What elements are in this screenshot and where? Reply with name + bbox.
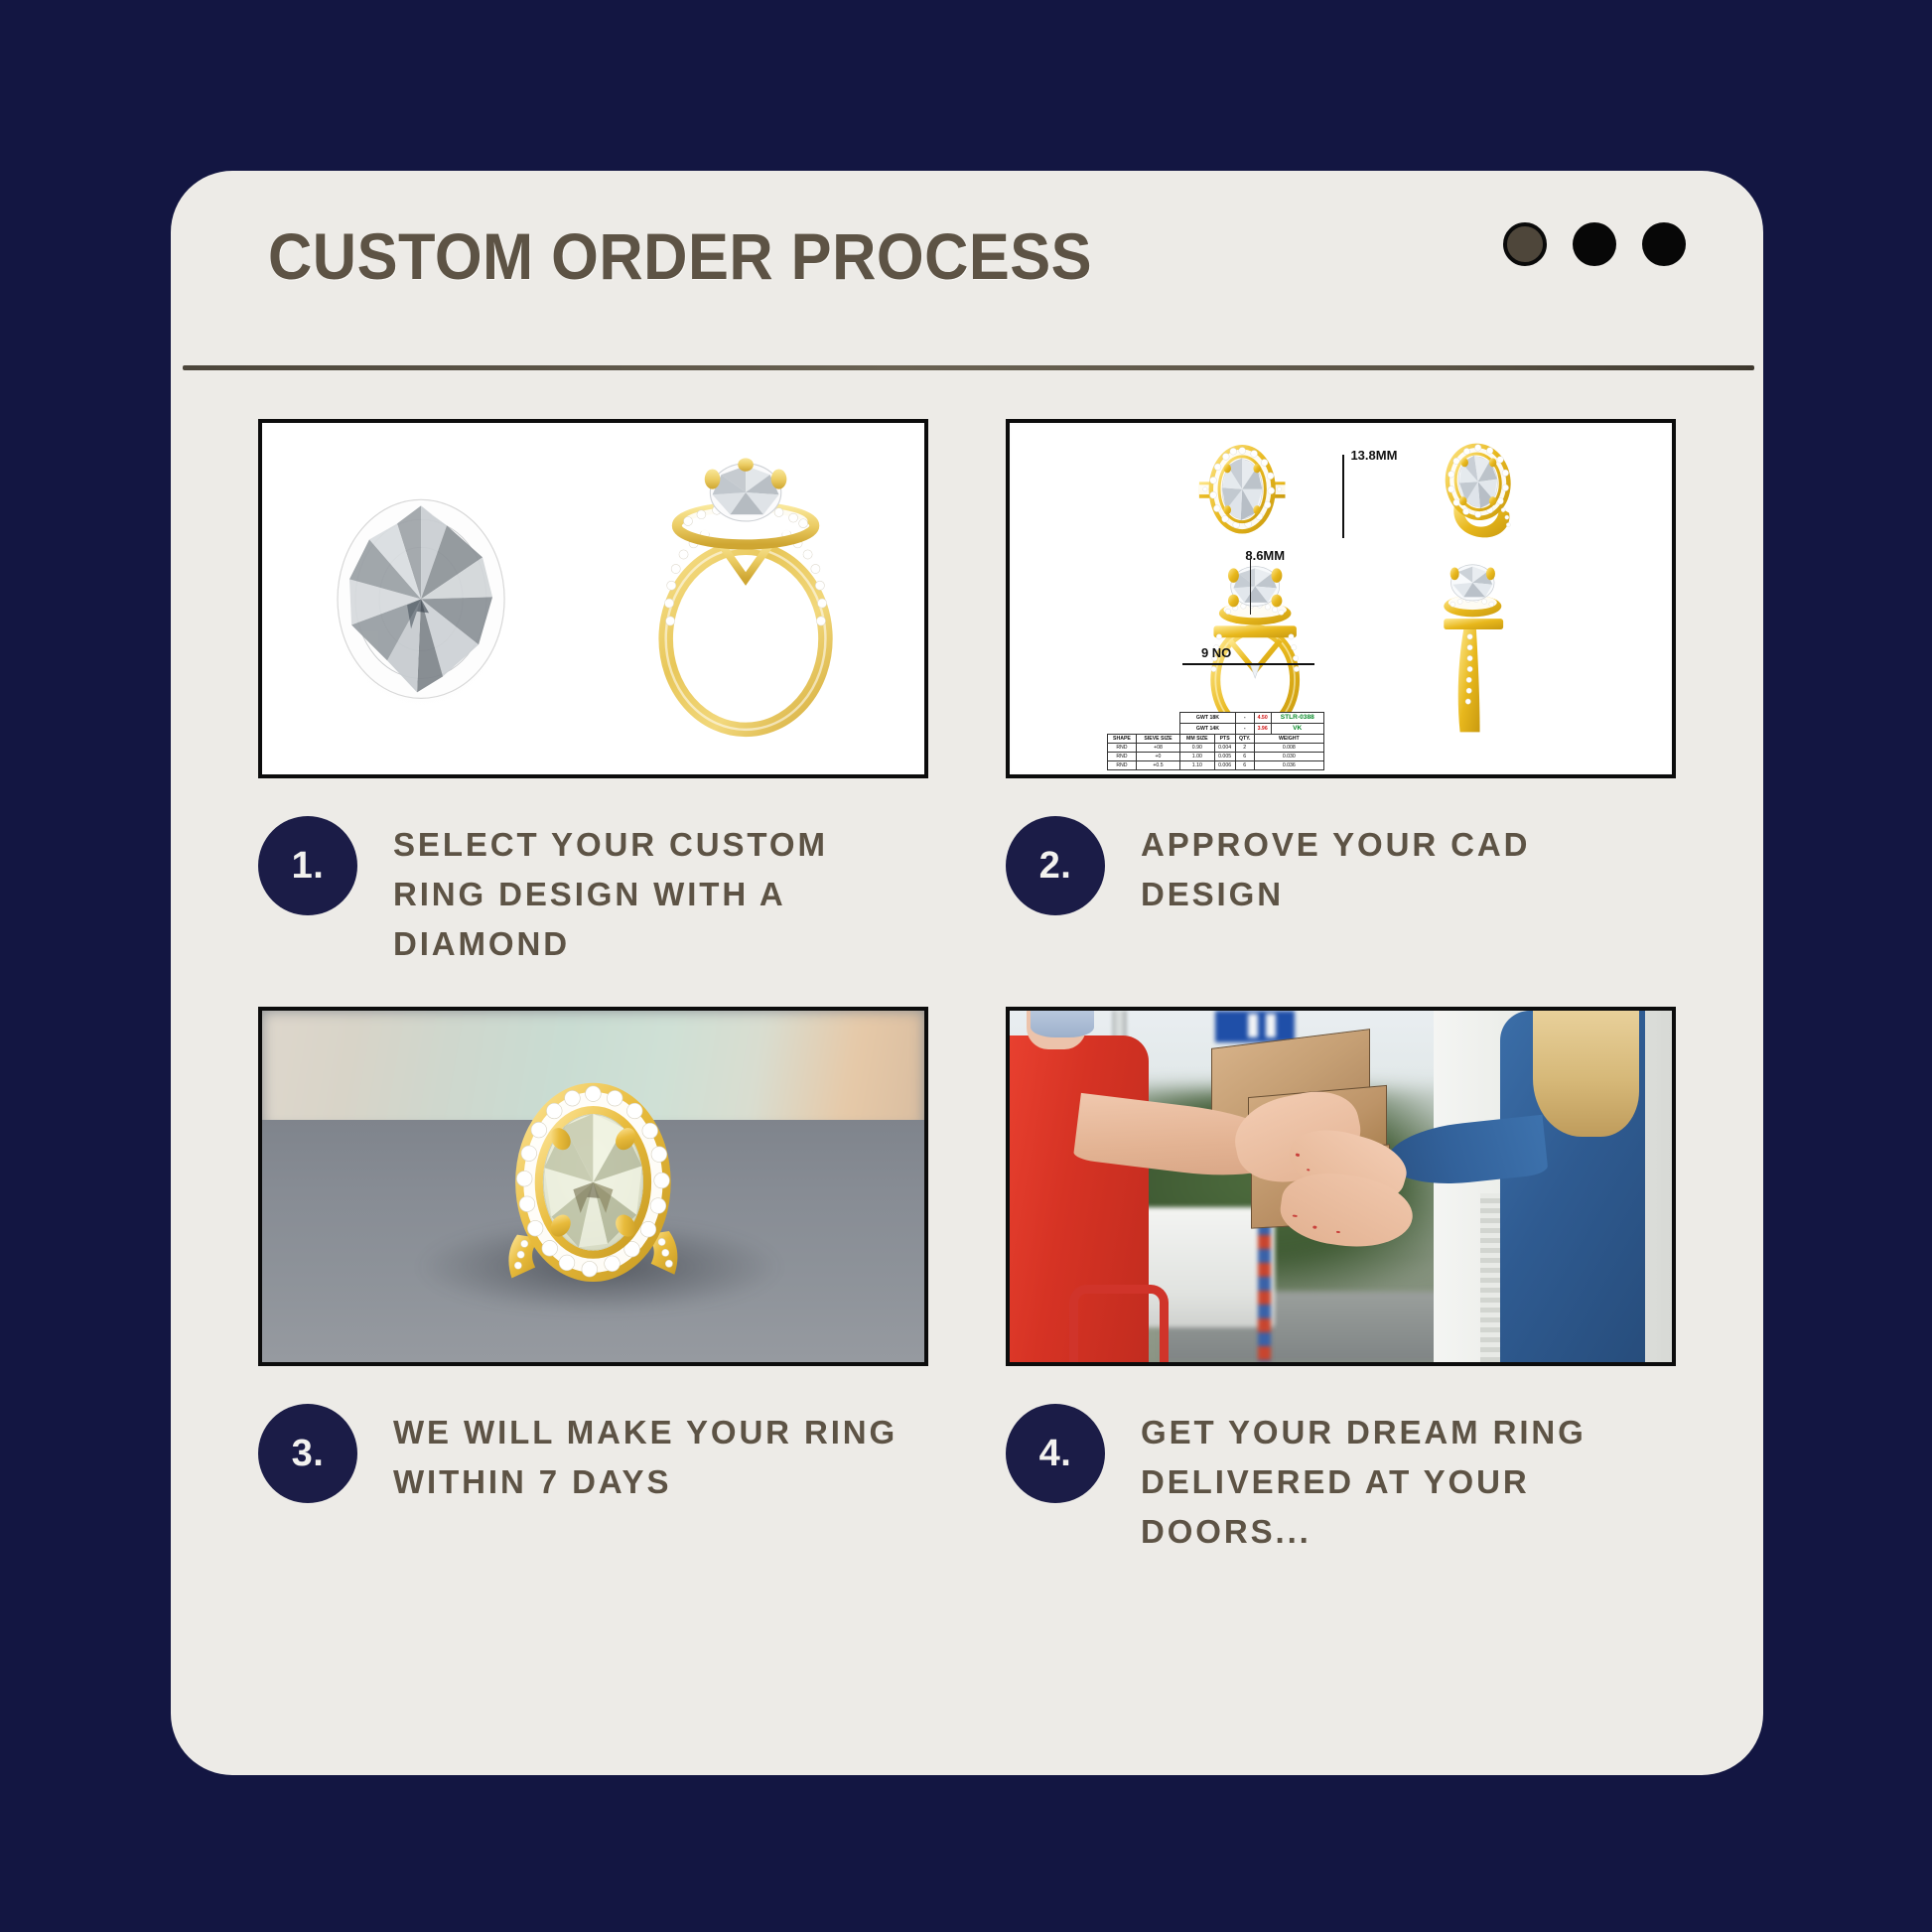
spec-th-pts: PTS bbox=[1214, 735, 1235, 744]
face-mask-icon bbox=[1031, 1011, 1093, 1037]
road-sign bbox=[1215, 1011, 1295, 1042]
step-2: 13.8MM 8.6MM 9 NO GWT 18K - bbox=[1006, 419, 1676, 977]
step-1: 1. SELECT YOUR CUSTOM RING DESIGN WITH A… bbox=[258, 419, 928, 977]
spec-gwt14k-value: 3.96 bbox=[1254, 724, 1271, 735]
gold-ring-illustration bbox=[626, 455, 865, 743]
step-1-caption: 1. SELECT YOUR CUSTOM RING DESIGN WITH A… bbox=[258, 778, 928, 977]
window-dot-1-icon[interactable] bbox=[1503, 222, 1547, 266]
step-3-caption: 3. WE WILL MAKE YOUR RING WITHIN 7 DAYS bbox=[258, 1366, 928, 1565]
step-2-label: APPROVE YOUR CAD DESIGN bbox=[1141, 808, 1657, 919]
spec-initials: VK bbox=[1271, 724, 1323, 735]
window-dot-3-icon[interactable] bbox=[1642, 222, 1686, 266]
spec-gwt14k-dash: - bbox=[1235, 724, 1254, 735]
step-2-number-badge: 2. bbox=[1006, 816, 1105, 915]
dimension-label-halo-width: 13.8MM bbox=[1350, 448, 1397, 463]
spec-th-shape: SHAPE bbox=[1108, 735, 1137, 744]
step-3-image[interactable] bbox=[258, 1007, 928, 1366]
step-4-caption: 4. GET YOUR DREAM RING DELIVERED AT YOUR… bbox=[1006, 1366, 1676, 1565]
spec-th-mmsize: MM SIZE bbox=[1180, 735, 1214, 744]
step-3: 3. WE WILL MAKE YOUR RING WITHIN 7 DAYS bbox=[258, 1007, 928, 1565]
step-1-image[interactable] bbox=[258, 419, 928, 778]
dimension-tick-stone bbox=[1250, 559, 1251, 615]
cad-view-perspective bbox=[1394, 436, 1565, 547]
recipient-hair bbox=[1533, 1011, 1639, 1137]
spec-th-qty: QTY. bbox=[1235, 735, 1254, 744]
spec-row-2: RND +0 1.00 0.005 6 0.030 bbox=[1108, 753, 1324, 761]
window-dots bbox=[1503, 222, 1686, 266]
step-1-number-badge: 1. bbox=[258, 816, 357, 915]
page-title: CUSTOM ORDER PROCESS bbox=[268, 218, 1092, 294]
browser-card: CUSTOM ORDER PROCESS bbox=[171, 171, 1763, 1775]
dimension-label-stone-width: 8.6MM bbox=[1245, 548, 1285, 563]
finished-ring-illustration bbox=[441, 1070, 746, 1323]
step-4-label: GET YOUR DREAM RING DELIVERED AT YOUR DO… bbox=[1141, 1396, 1657, 1557]
dimension-line-horizontal bbox=[1182, 663, 1314, 665]
spec-gwt14k-label: GWT 14K bbox=[1180, 724, 1236, 735]
cad-sheet: 13.8MM 8.6MM 9 NO GWT 18K - bbox=[1010, 423, 1672, 774]
step-2-image[interactable]: 13.8MM 8.6MM 9 NO GWT 18K - bbox=[1006, 419, 1676, 778]
hand-truck bbox=[1069, 1285, 1169, 1362]
spec-th-sieve: SIEVE SIZE bbox=[1136, 735, 1179, 744]
spec-row-1: RND +08 0.90 0.004 2 0.008 bbox=[1108, 744, 1324, 753]
window-dot-2-icon[interactable] bbox=[1573, 222, 1616, 266]
dimension-line-vertical bbox=[1342, 455, 1344, 538]
step-4-image[interactable] bbox=[1006, 1007, 1676, 1366]
diamond-illustration bbox=[322, 480, 520, 719]
step-3-label: WE WILL MAKE YOUR RING WITHIN 7 DAYS bbox=[393, 1396, 909, 1507]
dimension-label-ring-size: 9 NO bbox=[1201, 645, 1231, 660]
spec-gwt18k-label: GWT 18K bbox=[1180, 713, 1236, 724]
steps-grid: 1. SELECT YOUR CUSTOM RING DESIGN WITH A… bbox=[171, 419, 1763, 1565]
spec-gwt18k-value: 4.50 bbox=[1254, 713, 1271, 724]
spec-gwt18k-dash: - bbox=[1235, 713, 1254, 724]
card-header: CUSTOM ORDER PROCESS bbox=[171, 171, 1763, 369]
cad-view-side bbox=[1407, 543, 1539, 742]
step-1-label: SELECT YOUR CUSTOM RING DESIGN WITH A DI… bbox=[393, 808, 909, 969]
cad-spec-table: GWT 18K - 4.50 STLR-0388 GWT 14K - 3.96 bbox=[1107, 712, 1324, 770]
header-divider bbox=[183, 171, 1754, 179]
spec-style-code: STLR-0388 bbox=[1271, 713, 1323, 724]
step-2-caption: 2. APPROVE YOUR CAD DESIGN bbox=[1006, 778, 1676, 977]
finished-ring-photo bbox=[262, 1011, 924, 1362]
step-4-number-badge: 4. bbox=[1006, 1404, 1105, 1503]
step-3-number-badge: 3. bbox=[258, 1404, 357, 1503]
step-4: 4. GET YOUR DREAM RING DELIVERED AT YOUR… bbox=[1006, 1007, 1676, 1565]
spec-row-3: RND +0.5 1.10 0.006 6 0.036 bbox=[1108, 761, 1324, 770]
spec-th-weight: WEIGHT bbox=[1254, 735, 1323, 744]
poster-canvas: CUSTOM ORDER PROCESS bbox=[0, 0, 1932, 1932]
delivery-photo bbox=[1010, 1011, 1672, 1362]
cad-view-top bbox=[1157, 436, 1327, 547]
